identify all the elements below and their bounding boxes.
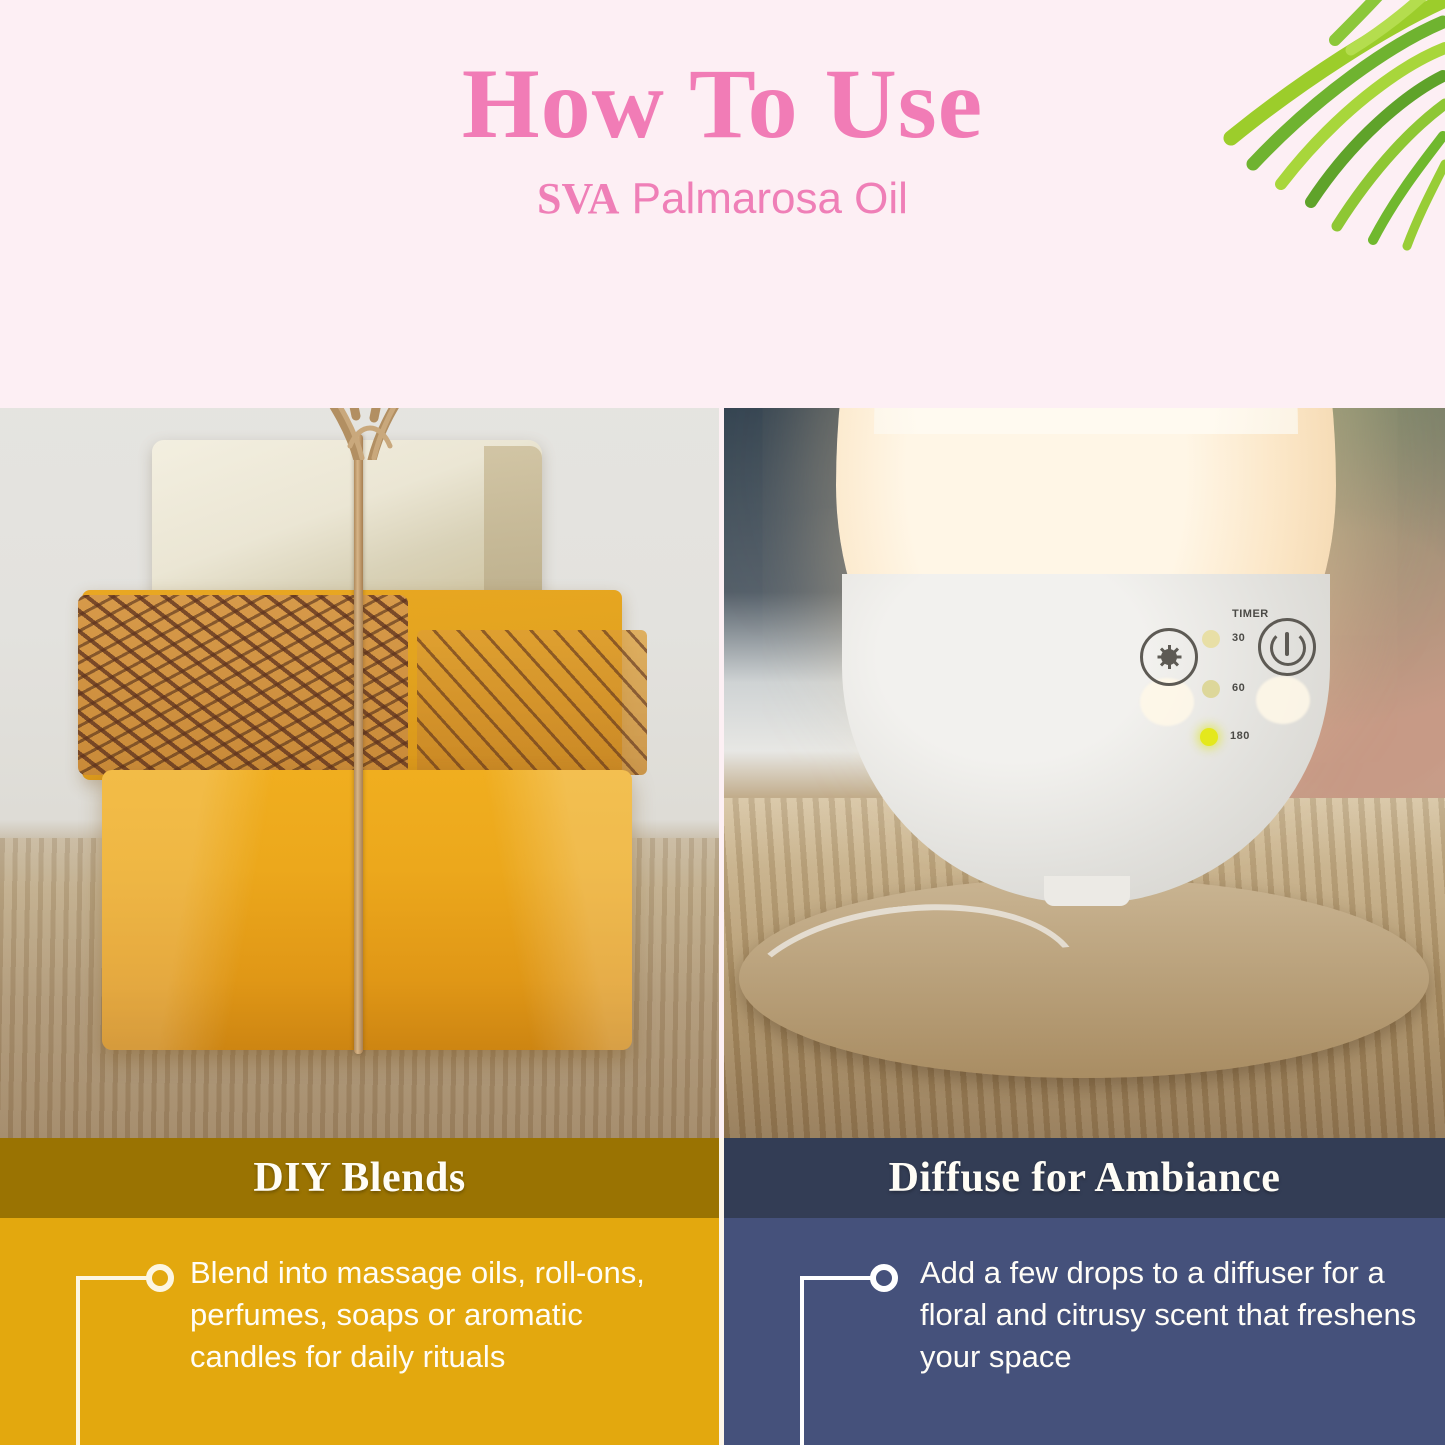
cream-soap-bar [152,440,542,600]
body-panels: Blend into massage oils, roll-ons, perfu… [0,1218,1445,1445]
title-band-diy: DIY Blends [0,1138,719,1218]
product-name: Palmarosa Oil [632,174,908,223]
soap-stack [72,440,632,1060]
power-bar-icon [1285,632,1289,656]
body-panel-diy: Blend into massage oils, roll-ons, perfu… [0,1218,719,1445]
panel-title-diy: DIY Blends [253,1155,465,1201]
panel-body-diffuse: Add a few drops to a diffuser for a flor… [920,1252,1425,1378]
timer-option-180[interactable]: 180 [1230,730,1250,742]
timer-option-60[interactable]: 60 [1232,682,1245,694]
header: How To Use SVA Palmarosa Oil [0,0,1445,408]
diffuser-foot [1044,876,1130,906]
herb-flecked-soap-bar-secondary [417,630,647,775]
page-subtitle: SVA Palmarosa Oil [0,172,1445,226]
power-button-pad[interactable] [1256,676,1310,724]
control-panel: TIMER 30 60 180 [1136,604,1316,774]
amber-soap-bar-bottom [102,770,632,1050]
timer-label: TIMER [1232,608,1269,620]
bullet-connector-icon [0,1218,200,1445]
infographic-poster: TIMER 30 60 180 How To Use SVA Palmarosa… [0,0,1445,1445]
light-button[interactable] [1140,628,1198,686]
twine-cord [354,434,363,1054]
power-button[interactable] [1258,618,1316,676]
body-panel-diffuse: Add a few drops to a diffuser for a flor… [724,1218,1445,1445]
brand-name: SVA [537,174,619,223]
timer-led-30 [1202,630,1220,648]
timer-option-30[interactable]: 30 [1232,632,1245,644]
page-title: How To Use [0,52,1445,156]
bullet-connector-icon [724,1218,924,1445]
title-band-diffuse: Diffuse for Ambiance [724,1138,1445,1218]
timer-led-60 [1202,680,1220,698]
title-bands: DIY Blends Diffuse for Ambiance [0,1138,1445,1218]
panel-body-diy: Blend into massage oils, roll-ons, perfu… [190,1252,690,1378]
timer-led-180-active [1200,728,1218,746]
panel-title-diffuse: Diffuse for Ambiance [889,1155,1281,1201]
